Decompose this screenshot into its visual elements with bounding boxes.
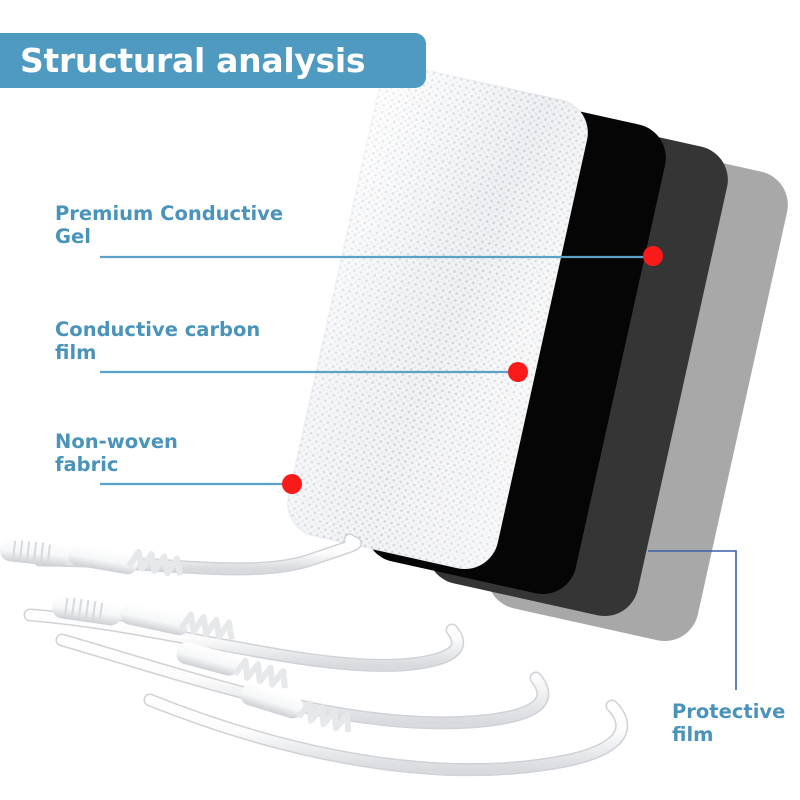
callout-label-non-woven-fabric: Non-woven fabric [55,430,178,476]
infographic-page: Structural analysis Premium Conductive G… [0,0,800,800]
callout-label-conductive-carbon-film: Conductive carbon film [55,318,260,364]
page-title: Structural analysis [20,44,365,77]
callout-label-protective-film: Protective film [672,700,785,746]
callout-label-premium-conductive-gel: Premium Conductive Gel [55,202,283,248]
title-banner: Structural analysis [0,33,426,88]
product-illustration [0,0,800,800]
